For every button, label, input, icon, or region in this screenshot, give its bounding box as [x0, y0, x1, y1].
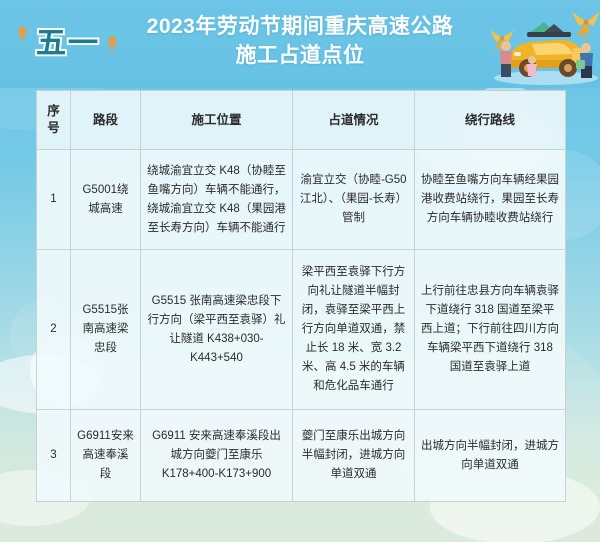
person-figure — [527, 56, 537, 76]
column-header-occupation: 占道情况 — [293, 91, 415, 150]
column-header-location: 施工位置 — [141, 91, 293, 150]
column-header-segment: 路段 — [71, 91, 141, 150]
person-figure — [500, 41, 512, 77]
cell-detour: 出城方向半幅封闭，进城方向单道双通 — [415, 410, 566, 502]
cell-index: 3 — [37, 410, 71, 502]
poster-root: 五一 五一 2023年劳动节期间重庆高速公路 施工占道点位 — [0, 0, 600, 542]
table-row: 1 G5001绕城高速 绕城渝宜立交 K48（协睦至鱼嘴方向）车辆不能通行，绕城… — [37, 150, 566, 250]
cell-index: 2 — [37, 250, 71, 410]
lantern-icon — [18, 26, 27, 37]
cell-occupation: 夔门至康乐出城方向半幅封闭，进城方向单道双通 — [293, 410, 415, 502]
column-header-index: 序号 — [37, 91, 71, 150]
table-header-row: 序号 路段 施工位置 占道情况 绕行路线 — [37, 91, 566, 150]
lantern-icon — [108, 36, 117, 47]
roof-luggage — [527, 22, 571, 37]
table-row: 2 G5515张南高速梁忠段 G5515 张南高速梁忠段下行方向（梁平西至袁驿）… — [37, 250, 566, 410]
cell-index: 1 — [37, 150, 71, 250]
column-header-detour: 绕行路线 — [415, 91, 566, 150]
page-title: 2023年劳动节期间重庆高速公路 施工占道点位 — [120, 12, 480, 70]
cell-segment: G5001绕城高速 — [71, 150, 141, 250]
table-row: 3 G6911安来高速奉溪段 G6911 安来高速奉溪段出城方向夔门至康乐 K1… — [37, 410, 566, 502]
cell-detour: 上行前往忠县方向车辆袁驿下道绕行 318 国道至梁平西上道；下行前往四川方向车辆… — [415, 250, 566, 410]
holiday-badge-fill: 五一 — [36, 18, 100, 62]
cell-occupation: 梁平西至袁驿下行方向礼让隧道半幅封闭，袁驿至梁平西上行方向单道双通，禁止长 18… — [293, 250, 415, 410]
page-title-line2: 施工占道点位 — [120, 41, 480, 70]
travel-car-illustration — [484, 4, 600, 88]
cell-location: 绕城渝宜立交 K48（协睦至鱼嘴方向）车辆不能通行，绕城渝宜立交 K48（果园港… — [141, 150, 293, 250]
cell-detour: 协睦至鱼嘴方向车辆经果园港收费站绕行，果园至长寿方向车辆协睦收费站绕行 — [415, 150, 566, 250]
cell-occupation: 渝宜立交（协睦-G50 江北）、（果园-长寿）管制 — [293, 150, 415, 250]
construction-sites-table: 序号 路段 施工位置 占道情况 绕行路线 1 G5001绕城高速 绕城渝宜立交 … — [36, 90, 566, 502]
page-title-line1: 2023年劳动节期间重庆高速公路 — [147, 15, 454, 38]
cell-segment: G5515张南高速梁忠段 — [71, 250, 141, 410]
cell-location: G5515 张南高速梁忠段下行方向（梁平西至袁驿）礼让隧道 K438+030-K… — [141, 250, 293, 410]
cell-location: G6911 安来高速奉溪段出城方向夔门至康乐 K178+400-K173+900 — [141, 410, 293, 502]
cell-segment: G6911安来高速奉溪段 — [71, 410, 141, 502]
